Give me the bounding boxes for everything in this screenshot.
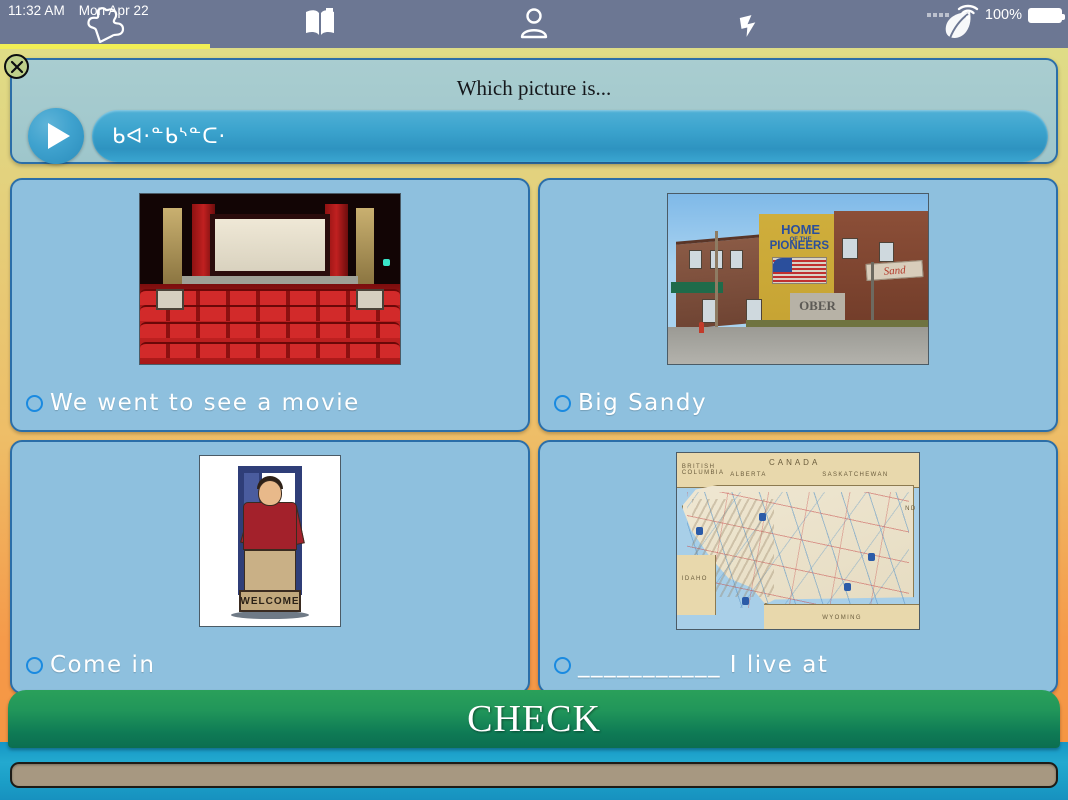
option-label-row[interactable]: Come in — [26, 652, 518, 678]
option-label-i-live-at: ___________ I live at — [578, 652, 828, 678]
movie-theater-image — [139, 193, 401, 365]
answer-options-grid: We went to see a movie HOMEOF THE PIONEE… — [10, 178, 1058, 694]
active-tab-indicator — [0, 44, 210, 49]
audio-prompt-row: ᑲᐊ·ᓐᑲᔅᓐᑕ· — [28, 108, 1048, 164]
status-right-cluster: 100% — [927, 4, 1062, 26]
map-label-idaho: IDAHO — [682, 576, 708, 582]
option-image-wrap — [12, 188, 528, 370]
book-icon[interactable] — [302, 6, 338, 45]
question-panel: Which picture is... ᑲᐊ·ᓐᑲᔅᓐᑕ· — [10, 58, 1058, 164]
option-label-come-in: Come in — [50, 652, 155, 678]
option-label-row[interactable]: We went to see a movie — [26, 390, 518, 416]
map-label-nd: ND — [905, 506, 916, 512]
radio-button-big-sandy[interactable] — [554, 395, 571, 412]
option-card-big-sandy[interactable]: HOMEOF THE PIONEERS OBER Sand — [538, 178, 1058, 432]
option-card-come-in[interactable]: WELCOME Come in — [10, 440, 530, 694]
syllabics-phrase-bar[interactable]: ᑲᐊ·ᓐᑲᔅᓐᑕ· — [92, 110, 1048, 162]
status-time: 11:32 AM — [8, 3, 65, 18]
map-label-alberta: ALBERTA — [730, 472, 767, 478]
signal-dots-icon — [927, 13, 949, 17]
option-label-row[interactable]: ___________ I live at — [554, 652, 1046, 678]
welcome-mat-text: WELCOME — [239, 590, 301, 612]
check-button-label: CHECK — [467, 697, 601, 741]
map-label-wyoming: WYOMING — [822, 615, 862, 621]
welcome-door-image: WELCOME — [199, 455, 341, 627]
map-label-saskatchewan: SASKATCHEWAN — [822, 472, 888, 478]
page-title: Which picture is... — [12, 76, 1056, 101]
progress-bar[interactable] — [10, 762, 1058, 788]
status-clock: 11:32 AM Mon Apr 22 — [8, 3, 149, 18]
option-label-row[interactable]: Big Sandy — [554, 390, 1046, 416]
puzzle-piece-icon[interactable] — [86, 6, 126, 49]
check-button[interactable]: CHECK — [8, 690, 1060, 748]
learning-app-screen: 11:32 AM Mon Apr 22 — [0, 0, 1068, 800]
montana-map-image: CANADA BRITISH COLUMBIA ALBERTA SASKATCH… — [676, 452, 920, 630]
person-icon[interactable] — [518, 6, 550, 45]
american-flag-mural — [772, 257, 827, 284]
option-image-wrap: CANADA BRITISH COLUMBIA ALBERTA SASKATCH… — [540, 450, 1056, 632]
syllabics-text: ᑲᐊ·ᓐᑲᔅᓐᑕ· — [112, 124, 226, 148]
radio-button-i-live-at[interactable] — [554, 657, 571, 674]
status-bar: 11:32 AM Mon Apr 22 — [0, 0, 1068, 48]
option-label-movie: We went to see a movie — [50, 390, 360, 416]
option-card-i-live-at[interactable]: CANADA BRITISH COLUMBIA ALBERTA SASKATCH… — [538, 440, 1058, 694]
battery-icon — [1028, 8, 1062, 23]
map-label-british-columbia: BRITISH COLUMBIA — [682, 464, 711, 477]
option-image-wrap: WELCOME — [12, 450, 528, 632]
option-image-wrap: HOMEOF THE PIONEERS OBER Sand — [540, 188, 1056, 370]
radio-button-come-in[interactable] — [26, 657, 43, 674]
radio-button-movie[interactable] — [26, 395, 43, 412]
lightning-bolt-icon[interactable] — [732, 6, 766, 45]
wifi-icon — [957, 4, 979, 26]
option-card-movie[interactable]: We went to see a movie — [10, 178, 530, 432]
pioneers-building-image: HOMEOF THE PIONEERS OBER Sand — [667, 193, 929, 365]
map-label-canada: CANADA — [769, 458, 820, 467]
option-label-big-sandy: Big Sandy — [578, 390, 707, 416]
ghost-sign: OBER — [790, 293, 845, 320]
building-sign-pioneers: PIONEERS — [762, 240, 837, 252]
play-icon[interactable] — [28, 108, 84, 164]
battery-percent-label: 100% — [985, 7, 1022, 23]
close-icon[interactable] — [4, 54, 29, 79]
